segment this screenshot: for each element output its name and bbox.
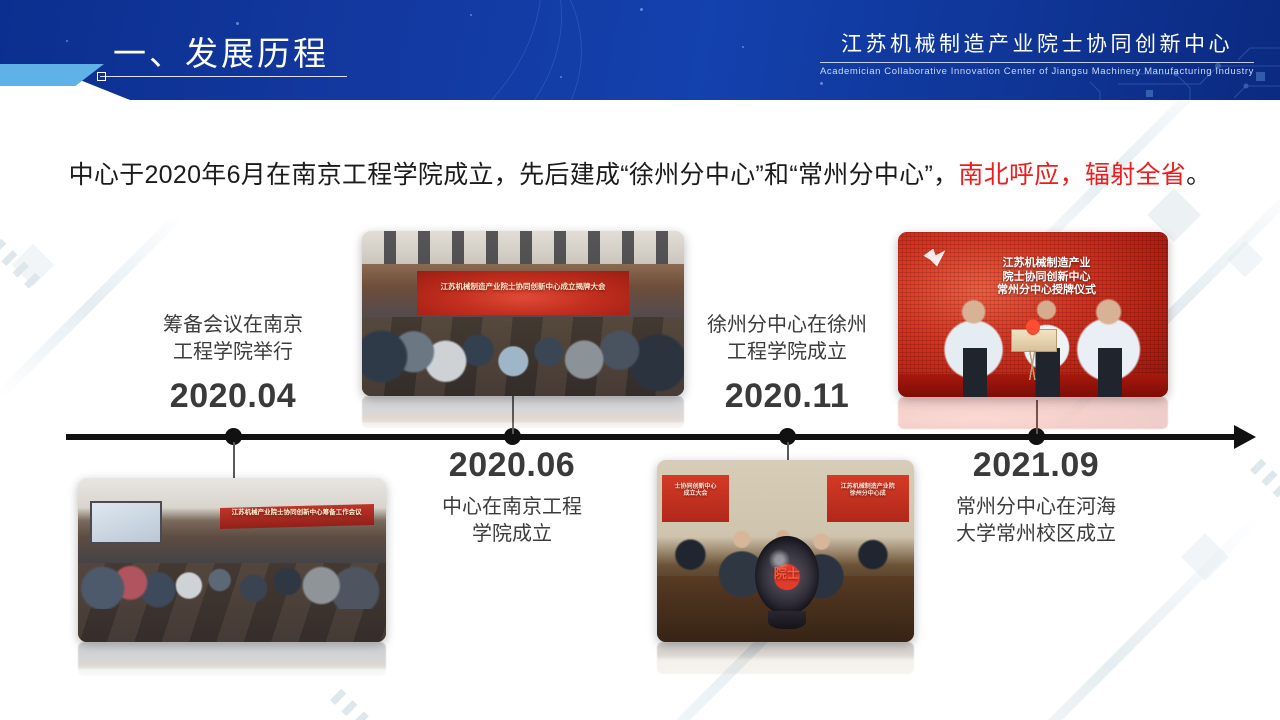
photo-3-ball-text: 院士	[755, 566, 819, 582]
milestone-3: 徐州分中心在徐州 工程学院成立 2020.11	[677, 312, 897, 417]
photo-4-ribbon-flower	[1026, 319, 1040, 335]
milestone-1-date: 2020.04	[123, 376, 343, 417]
milestone-3-date: 2020.11	[677, 376, 897, 417]
header-spark	[820, 82, 823, 85]
photo-1-banner-text: 江苏机械产业院士协同创新中心筹备工作会议	[220, 509, 374, 517]
photo-1-scene	[78, 478, 386, 642]
slide-root: 一、发展历程 江苏机械制造产业院士协同创新中心 Academician Coll…	[0, 0, 1280, 720]
decor-dashes-right	[1250, 459, 1280, 538]
decor-diamond-5	[1181, 533, 1229, 581]
brand-title-cn: 江苏机械制造产业院士协同创新中心	[820, 28, 1254, 58]
phoenix-logo-icon	[923, 249, 945, 267]
milestone-4-desc: 常州分中心在河海 大学常州校区成立	[926, 494, 1146, 548]
milestone-3-desc: 徐州分中心在徐州 工程学院成立	[677, 312, 897, 366]
timeline-stem-4	[1036, 400, 1038, 434]
brand-divider	[820, 62, 1254, 63]
photo-center-founding-assembly[interactable]: 江苏机械制造产业院士协同创新中心成立揭牌大会	[362, 231, 684, 396]
timeline-axis	[66, 434, 1240, 440]
milestone-4: 2021.09 常州分中心在河海 大学常州校区成立	[926, 445, 1146, 548]
photo-4-easel-legs	[1017, 350, 1050, 380]
photo-4-backdrop-text: 江苏机械制造产业 院士协同创新中心 常州分中心授牌仪式	[947, 257, 1147, 298]
decor-diamond-4	[12, 244, 54, 286]
slide-header: 一、发展历程 江苏机械制造产业院士协同创新中心 Academician Coll…	[0, 0, 1280, 100]
photo-2-reflection	[362, 396, 684, 428]
decor-dashes-far-left	[0, 239, 47, 296]
milestone-1-desc: 筹备会议在南京 工程学院举行	[123, 312, 343, 366]
photo-2-banner-text: 江苏机械制造产业院士协同创新中心成立揭牌大会	[417, 282, 630, 291]
decor-dashes-left	[330, 689, 500, 720]
milestone-1: 筹备会议在南京 工程学院举行 2020.04	[123, 312, 343, 417]
header-spark	[742, 46, 744, 48]
timeline-stem-2	[512, 396, 514, 434]
milestone-4-date: 2021.09	[926, 445, 1146, 486]
lead-text-part1: 中心于2020年6月在南京工程学院成立，先后建成“徐州分中心”和“常州分中心”，	[69, 161, 959, 189]
photo-3-reflection	[657, 642, 914, 674]
brand-block: 江苏机械制造产业院士协同创新中心 Academician Collaborati…	[820, 28, 1254, 77]
milestone-2-date: 2020.06	[402, 445, 622, 486]
photo-changzhou-branch-plaque[interactable]: 江苏机械制造产业 院士协同创新中心 常州分中心授牌仪式	[898, 232, 1168, 397]
photo-2-scene	[362, 231, 684, 396]
photo-3-led-left-text: 士协同创新中心 成立大会	[662, 484, 729, 499]
photo-xuzhou-branch-ceremony[interactable]: 士协同创新中心 成立大会 江苏机械制造产业院 徐州分中心成 院士	[657, 460, 914, 642]
lead-paragraph: 中心于2020年6月在南京工程学院成立，先后建成“徐州分中心”和“常州分中心”，…	[0, 155, 1280, 191]
milestone-2-desc: 中心在南京工程 学院成立	[402, 494, 622, 548]
photo-3-led-right-text: 江苏机械制造产业院 徐州分中心成	[827, 484, 909, 499]
photo-2-banner	[417, 271, 630, 316]
header-accent-triangle-white	[0, 86, 96, 118]
photo-2-audience	[362, 317, 684, 396]
decor-diamond-2	[1227, 241, 1264, 278]
photo-1-attendees	[78, 540, 386, 609]
milestone-2: 2020.06 中心在南京工程 学院成立	[402, 445, 622, 548]
lead-text-highlight: 南北呼应，辐射全省	[958, 161, 1186, 189]
brand-title-en: Academician Collaborative Innovation Cen…	[820, 66, 1254, 77]
title-underline	[100, 76, 347, 77]
photo-4-reflection	[898, 397, 1168, 429]
photo-2-ceiling-lights	[362, 231, 684, 264]
photo-3-ball-base	[768, 611, 807, 629]
photo-1-reflection	[78, 642, 386, 676]
photo-4-plaque-stand	[1011, 318, 1054, 381]
title-underline-marker	[97, 72, 106, 81]
page-title: 一、发展历程	[113, 27, 329, 75]
projection-screen	[90, 501, 162, 544]
photo-preparatory-meeting[interactable]: 江苏机械产业院士协同创新中心筹备工作会议	[78, 478, 386, 642]
timeline-arrow-head	[1234, 425, 1256, 449]
header-spark	[640, 8, 643, 11]
lead-text-part2: 。	[1186, 161, 1211, 189]
